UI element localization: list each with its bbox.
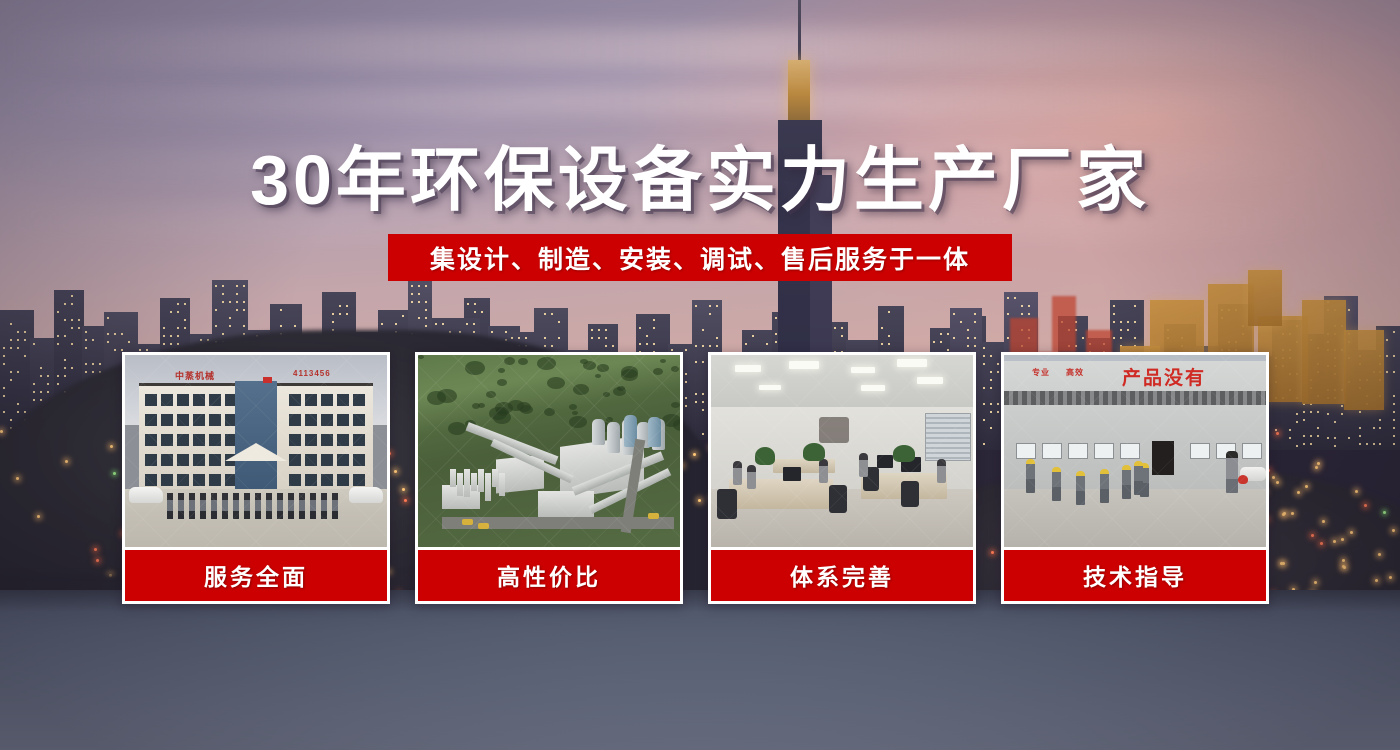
feature-card[interactable]: 产品没有 专业 高效 技术指导 — [1001, 352, 1269, 604]
cloud-band — [0, 86, 1400, 116]
card-caption: 高性价比 — [418, 550, 680, 601]
card-photo-aerial-plant — [418, 355, 680, 547]
factory-slogan-small-2: 高效 — [1066, 367, 1084, 378]
feature-card-list: 中蒸机械 4113456 服务全面 高性价比 — [122, 352, 1278, 604]
building-signage: 中蒸机械 — [175, 369, 215, 382]
card-photo-factory-training: 产品没有 专业 高效 — [1004, 355, 1266, 547]
subtitle-banner: 集设计、制造、安装、调试、售后服务于一体 — [388, 234, 1012, 281]
card-caption: 服务全面 — [125, 550, 387, 601]
card-photo-office-building: 中蒸机械 4113456 — [125, 355, 387, 547]
card-caption: 技术指导 — [1004, 550, 1266, 601]
subtitle-text: 集设计、制造、安装、调试、售后服务于一体 — [430, 240, 970, 276]
feature-card[interactable]: 高性价比 — [415, 352, 683, 604]
feature-card[interactable]: 体系完善 — [708, 352, 976, 604]
promo-banner: 30年环保设备实力生产厂家 集设计、制造、安装、调试、售后服务于一体 中蒸机械 … — [0, 0, 1400, 750]
factory-slogan-small-1: 专业 — [1032, 367, 1050, 378]
factory-slogan-large: 产品没有 — [1122, 363, 1206, 390]
tower-crown-lights — [788, 60, 810, 122]
page-title: 30年环保设备实力生产厂家 — [0, 124, 1400, 225]
building-phone-number: 4113456 — [293, 369, 331, 378]
river-water — [0, 590, 1400, 750]
cloud-band — [0, 28, 1400, 68]
feature-card[interactable]: 中蒸机械 4113456 服务全面 — [122, 352, 390, 604]
card-caption: 体系完善 — [711, 550, 973, 601]
card-photo-office-interior — [711, 355, 973, 547]
